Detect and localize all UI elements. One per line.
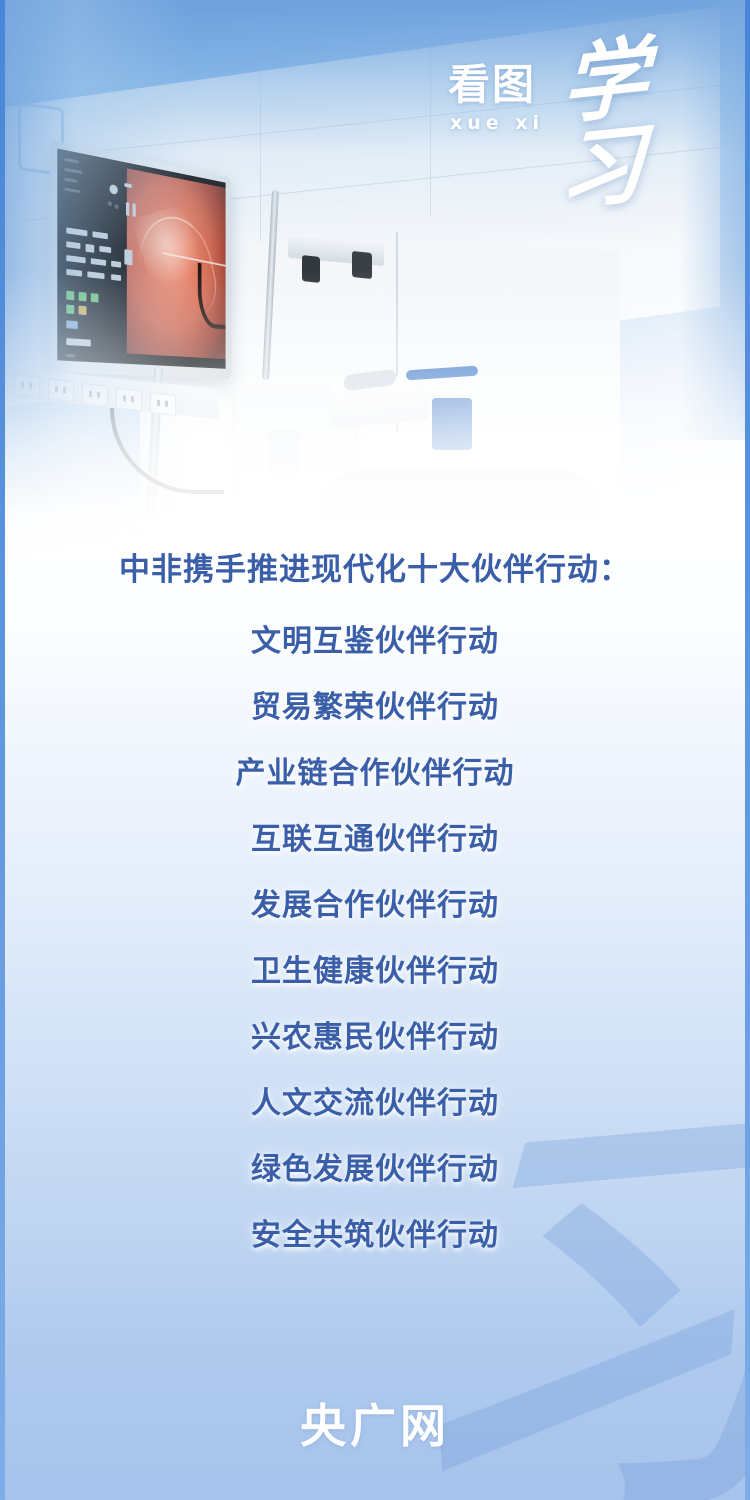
list-item: 互联互通伙伴行动 <box>0 825 750 855</box>
list-item: 文明互鉴伙伴行动 <box>0 627 750 657</box>
list-item: 安全共筑伙伴行动 <box>0 1221 750 1251</box>
partnership-action-list: 文明互鉴伙伴行动 贸易繁荣伙伴行动 产业链合作伙伴行动 互联互通伙伴行动 发展合… <box>0 627 750 1251</box>
content-block: 中非携手推进现代化十大伙伴行动： 文明互鉴伙伴行动 贸易繁荣伙伴行动 产业链合作… <box>0 552 750 1287</box>
list-item: 发展合作伙伴行动 <box>0 891 750 921</box>
logo-cursive-text: 学习 <box>557 27 712 216</box>
right-edge-rail <box>745 0 750 1500</box>
logo-title-text: 看图 <box>448 64 536 106</box>
list-item: 兴农惠民伙伴行动 <box>0 1023 750 1053</box>
list-item: 贸易繁荣伙伴行动 <box>0 693 750 723</box>
page-title: 中非携手推进现代化十大伙伴行动： <box>0 552 750 589</box>
list-item: 人文交流伙伴行动 <box>0 1089 750 1119</box>
list-item: 卫生健康伙伴行动 <box>0 957 750 987</box>
left-edge-rail <box>0 0 5 1500</box>
footer: 央广网 <box>0 1390 750 1456</box>
brand-logo: 看图 xue xi 学习 <box>440 52 710 152</box>
hero-bottom-fade <box>0 270 750 560</box>
poster-root: 看图 xue xi 学习 习 中非携手推进现代化十大伙伴行动： 文明互鉴伙伴行动… <box>0 0 750 1500</box>
list-item: 绿色发展伙伴行动 <box>0 1155 750 1185</box>
publisher-logo: 央广网 <box>0 1390 750 1456</box>
list-item: 产业链合作伙伴行动 <box>0 759 750 789</box>
logo-pinyin-text: xue xi <box>450 112 544 134</box>
